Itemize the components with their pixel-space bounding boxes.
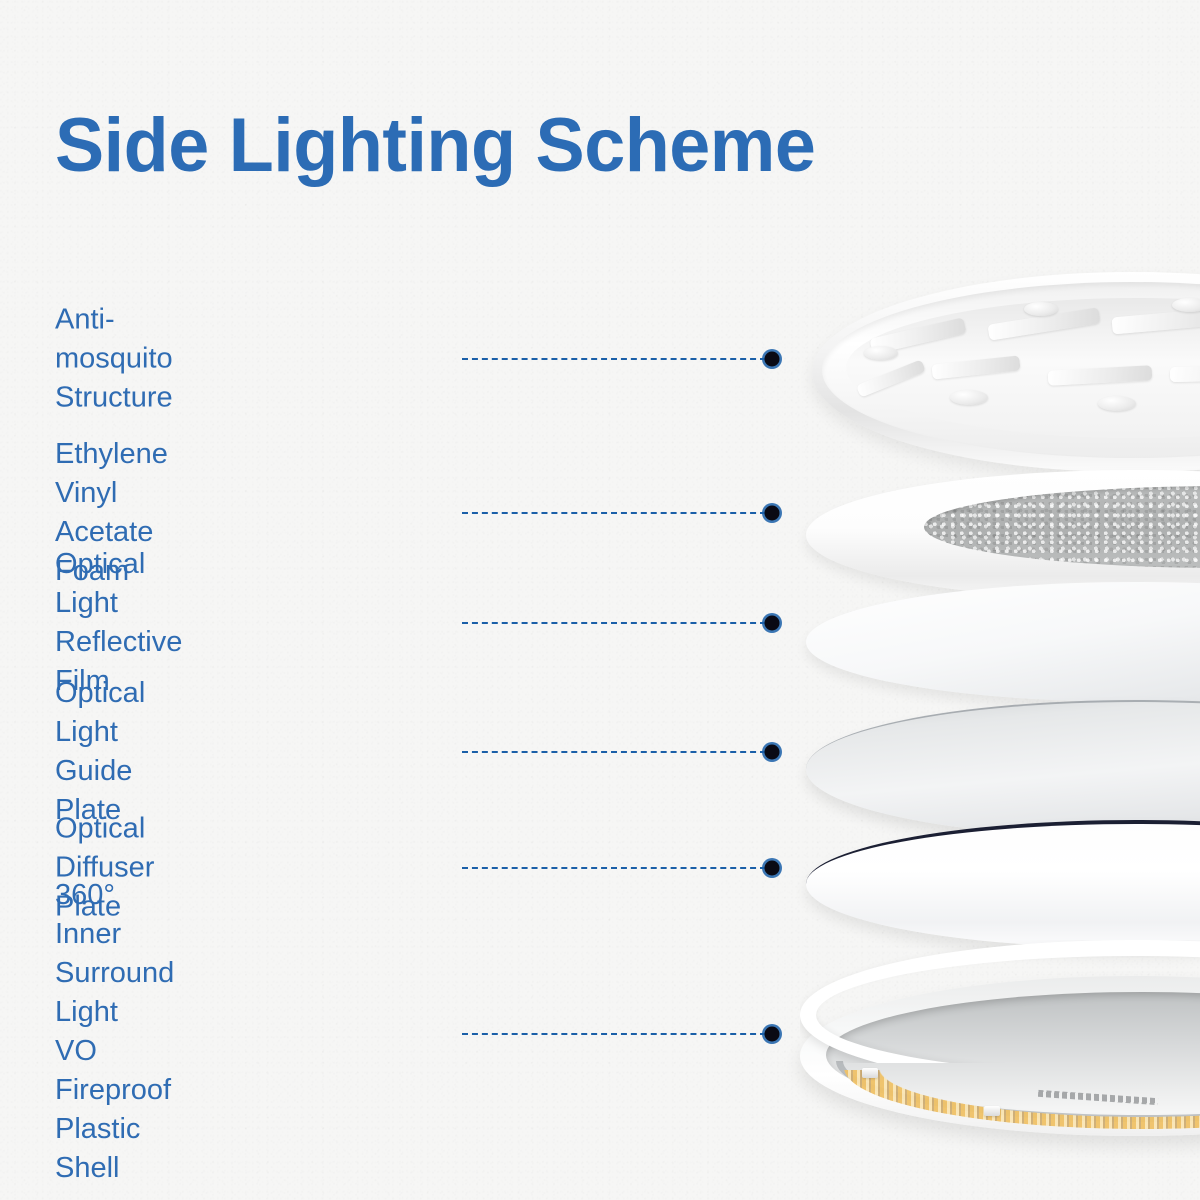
ring-rib — [1048, 365, 1153, 385]
ring-inner-face — [846, 298, 1200, 438]
shell-print-marking — [1038, 1090, 1158, 1105]
reflective-film-sheet — [806, 582, 1200, 702]
ring-rib — [931, 355, 1020, 379]
shell-base — [800, 976, 1200, 1136]
layer-anti-mosquito-ring — [812, 272, 1200, 472]
ring-rib — [1170, 365, 1200, 382]
light-guide-body — [806, 700, 1200, 838]
leader-dot — [765, 1027, 780, 1042]
leader-dot — [765, 861, 780, 876]
ring-boss — [950, 390, 988, 405]
callout-label: Anti-mosquito Structure — [55, 301, 173, 418]
eva-foam-pad — [924, 486, 1200, 568]
shell-cavity — [826, 992, 1200, 1118]
ring-boss — [1024, 302, 1058, 316]
ring-boss — [864, 346, 898, 360]
diagram-canvas: Side Lighting Scheme Anti-mosquito Struc… — [0, 0, 1200, 1200]
ring-rib — [869, 317, 966, 354]
diffuser-body — [806, 820, 1200, 948]
led-track — [836, 1000, 1200, 1122]
leader-line — [462, 1033, 766, 1035]
leader-dot — [765, 745, 780, 760]
shell-rim — [800, 940, 1200, 1090]
layer-reflective-film — [806, 582, 1200, 702]
ring-rib — [1111, 307, 1200, 335]
leader-line — [462, 512, 766, 514]
led-strip — [844, 1006, 1200, 1129]
ring-outer-shell — [812, 272, 1200, 472]
ring-lip — [822, 282, 1200, 458]
callout-label: Optical Light Guide Plate — [55, 674, 145, 830]
layer-fireproof-shell — [800, 940, 1200, 1150]
callout-label: 360° Inner Surround Light VO Fireproof P… — [55, 876, 174, 1188]
leader-dot — [765, 616, 780, 631]
leader-line — [462, 867, 766, 869]
layer-eva-foam — [806, 470, 1200, 600]
eva-carrier-plate — [806, 470, 1200, 600]
leader-line — [462, 358, 766, 360]
leader-line — [462, 751, 766, 753]
diffuser-dark-edge — [806, 820, 1200, 948]
ring-boss — [1098, 396, 1136, 411]
ring-rib — [856, 359, 926, 397]
light-guide-edge — [806, 700, 1200, 838]
ring-rib — [987, 307, 1100, 340]
shell-clip — [984, 1106, 1000, 1116]
leader-dot — [765, 506, 780, 521]
leader-dot — [765, 352, 780, 367]
layer-light-guide-plate — [806, 700, 1200, 838]
shell-clip — [862, 1068, 878, 1078]
layer-diffuser-plate — [806, 820, 1200, 948]
page-title: Side Lighting Scheme — [55, 104, 815, 188]
leader-line — [462, 622, 766, 624]
ring-boss — [1172, 298, 1200, 312]
